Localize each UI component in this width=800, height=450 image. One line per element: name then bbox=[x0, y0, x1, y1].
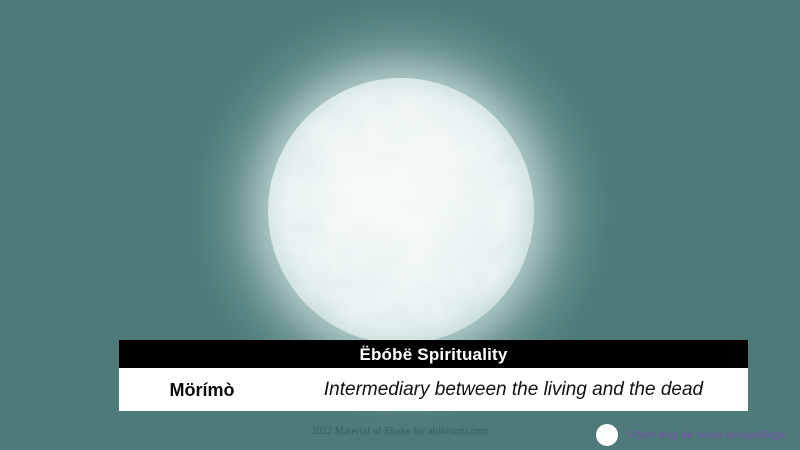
bullet-circle-icon bbox=[596, 424, 618, 446]
slide-canvas: Ëbóbë Spirituality Mörímò Intermediary b… bbox=[0, 0, 800, 450]
caption-term-row: Mörímò Intermediary between the living a… bbox=[119, 368, 748, 411]
caption-title-bar: Ëbóbë Spirituality bbox=[119, 340, 748, 368]
sphere-shading bbox=[268, 78, 534, 344]
plasma-sphere bbox=[268, 78, 534, 344]
caption-block: Ëbóbë Spirituality Mörímò Intermediary b… bbox=[119, 340, 748, 411]
sphere-body bbox=[268, 78, 534, 344]
term-definition: Intermediary between the living and the … bbox=[285, 380, 748, 399]
caption-title: Ëbóbë Spirituality bbox=[359, 346, 507, 363]
term-label: Mörímò bbox=[119, 381, 285, 399]
misspelling-note-text: *There may be some misspellings bbox=[625, 430, 786, 441]
misspelling-note: *There may be some misspellings bbox=[596, 424, 786, 446]
